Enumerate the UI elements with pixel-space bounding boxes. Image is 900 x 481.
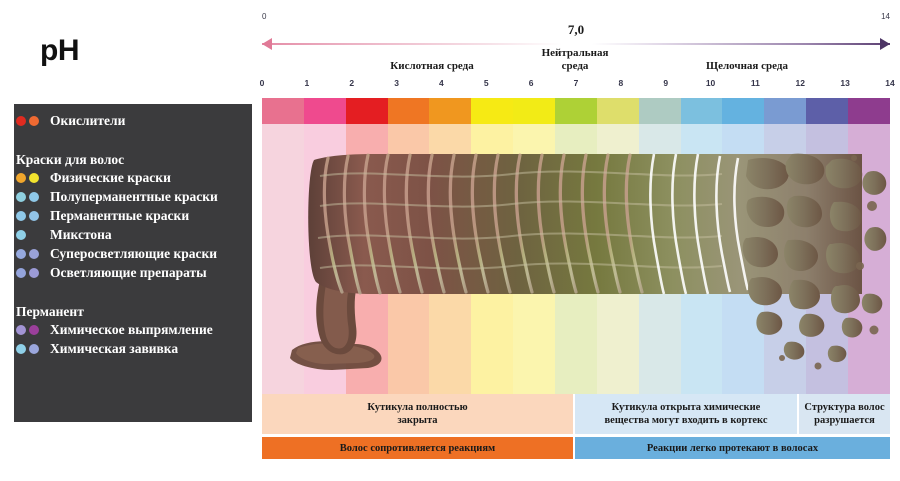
scale-tick: 0 bbox=[250, 78, 274, 88]
color-band bbox=[764, 98, 806, 394]
legend-gap bbox=[16, 131, 232, 143]
legend-color-dots bbox=[16, 211, 50, 221]
legend-item-label: Окислители bbox=[50, 113, 125, 129]
legend-color-dots bbox=[16, 344, 50, 354]
legend-dot-icon bbox=[29, 116, 39, 126]
color-band-pale bbox=[388, 124, 430, 394]
scale-tick: 13 bbox=[833, 78, 857, 88]
legend-item: Суперосветляющие краски bbox=[16, 245, 232, 263]
color-band bbox=[513, 98, 555, 394]
color-band-saturated bbox=[597, 98, 639, 124]
caption-row: Кутикула полностью закрыта Кутикула откр… bbox=[262, 394, 890, 434]
legend-color-dots bbox=[16, 192, 50, 202]
legend-item: Микстона bbox=[16, 226, 232, 244]
legend-item-label: Физические краски bbox=[50, 170, 171, 186]
summary-bar-resists: Волос сопротивляется реакциям bbox=[262, 437, 573, 459]
color-band bbox=[681, 98, 723, 394]
color-band-saturated bbox=[429, 98, 471, 124]
legend-item-label: Полуперманентные краски bbox=[50, 189, 218, 205]
scale-tick: 2 bbox=[340, 78, 364, 88]
scale-tick: 14 bbox=[878, 78, 900, 88]
color-band-saturated bbox=[304, 98, 346, 124]
color-band-pale bbox=[722, 124, 764, 394]
acid-arrow-head-icon bbox=[262, 38, 272, 50]
legend-dot-icon bbox=[29, 211, 39, 221]
region-label-alkaline: Щелочная среда bbox=[632, 60, 862, 73]
region-label-neutral: Нейтральная среда bbox=[520, 47, 630, 73]
legend-item: Физические краски bbox=[16, 169, 232, 187]
scale-tick: 12 bbox=[788, 78, 812, 88]
legend-item-label: Микстона bbox=[50, 227, 112, 243]
legend-color-dots bbox=[16, 173, 50, 183]
legend-item: Перманентные краски bbox=[16, 207, 232, 225]
color-band bbox=[346, 98, 388, 394]
color-band-pale bbox=[471, 124, 513, 394]
color-band-saturated bbox=[471, 98, 513, 124]
legend-group-heading: Перманент bbox=[16, 304, 232, 320]
color-band-saturated bbox=[681, 98, 723, 124]
alkaline-arrow-head-icon bbox=[880, 38, 890, 50]
color-band-saturated bbox=[639, 98, 681, 124]
color-band-saturated bbox=[848, 98, 890, 124]
legend-dot-icon bbox=[16, 116, 26, 126]
legend-content: ОкислителиКраски для волосФизические кра… bbox=[16, 112, 232, 359]
color-band bbox=[471, 98, 513, 394]
color-band-pale bbox=[806, 124, 848, 394]
color-band bbox=[262, 98, 304, 394]
caption-cuticle-open-line2: вещества могут входить в кортекс bbox=[604, 414, 767, 427]
caption-cuticle-open: Кутикула открыта химические вещества мог… bbox=[573, 394, 797, 434]
ph-scale-header: 0 14 7,0 Кислотная среда Нейтральная сре… bbox=[262, 12, 890, 96]
page-title: pH bbox=[40, 34, 79, 68]
region-label-neutral-line2: среда bbox=[520, 60, 630, 73]
color-band-pale bbox=[848, 124, 890, 394]
summary-bar-reacts: Реакции легко протекают в волосах bbox=[573, 437, 890, 459]
summary-bar-row: Волос сопротивляется реакциям Реакции ле… bbox=[262, 437, 890, 459]
acid-arrow-line bbox=[262, 43, 562, 45]
color-band-pale bbox=[346, 124, 388, 394]
scale-tick: 11 bbox=[743, 78, 767, 88]
color-band-saturated bbox=[555, 98, 597, 124]
legend-gap bbox=[16, 283, 232, 295]
color-band-pale bbox=[597, 124, 639, 394]
legend-item-label: Суперосветляющие краски bbox=[50, 246, 217, 262]
caption-structure-destroyed-line1: Структура волос bbox=[804, 401, 884, 414]
legend-dot-icon bbox=[16, 211, 26, 221]
legend-color-dots bbox=[16, 230, 50, 240]
legend-group-heading: Краски для волос bbox=[16, 152, 232, 168]
legend-dot-icon bbox=[16, 230, 26, 240]
infographic-root: pH ОкислителиКраски для волосФизические … bbox=[0, 0, 900, 481]
color-band-saturated bbox=[513, 98, 555, 124]
legend-item-label: Осветляющие препараты bbox=[50, 265, 207, 281]
legend-dot-icon bbox=[29, 268, 39, 278]
legend-color-dots bbox=[16, 268, 50, 278]
legend-item: Полуперманентные краски bbox=[16, 188, 232, 206]
scale-tick-row: 01234567891011121314 bbox=[262, 78, 890, 94]
color-band-row bbox=[262, 98, 890, 394]
color-band bbox=[639, 98, 681, 394]
caption-cuticle-closed-line2: закрыта bbox=[367, 414, 467, 427]
color-band-pale bbox=[764, 124, 806, 394]
scale-tick: 7 bbox=[564, 78, 588, 88]
scale-tick: 8 bbox=[609, 78, 633, 88]
color-band bbox=[722, 98, 764, 394]
alkaline-arrow-line bbox=[592, 43, 890, 45]
scale-tick: 10 bbox=[699, 78, 723, 88]
color-band-saturated bbox=[388, 98, 430, 124]
legend-dot-icon bbox=[29, 192, 39, 202]
caption-cuticle-closed-line1: Кутикула полностью bbox=[367, 401, 467, 414]
color-band bbox=[597, 98, 639, 394]
color-band-pale bbox=[513, 124, 555, 394]
color-band bbox=[304, 98, 346, 394]
color-band-pale bbox=[555, 124, 597, 394]
color-band-pale bbox=[429, 124, 471, 394]
color-band-saturated bbox=[346, 98, 388, 124]
scale-tick: 3 bbox=[385, 78, 409, 88]
color-band bbox=[806, 98, 848, 394]
scale-right-end: 14 bbox=[881, 12, 890, 21]
color-band-pale bbox=[639, 124, 681, 394]
legend-item: Химическое выпрямление bbox=[16, 321, 232, 339]
color-band bbox=[388, 98, 430, 394]
legend-item-label: Химическая завивка bbox=[50, 341, 178, 357]
legend-dot-icon bbox=[16, 173, 26, 183]
color-band-pale bbox=[681, 124, 723, 394]
color-band bbox=[429, 98, 471, 394]
caption-structure-destroyed-line2: разрушается bbox=[804, 414, 884, 427]
legend-item: Окислители bbox=[16, 112, 232, 130]
ph-color-chart bbox=[262, 98, 890, 394]
legend-item: Химическая завивка bbox=[16, 340, 232, 358]
color-band bbox=[555, 98, 597, 394]
color-band-pale bbox=[262, 124, 304, 394]
legend-dot-icon bbox=[16, 268, 26, 278]
color-band bbox=[848, 98, 890, 394]
legend-color-dots bbox=[16, 116, 50, 126]
scale-tick: 1 bbox=[295, 78, 319, 88]
scale-left-end: 0 bbox=[262, 12, 266, 21]
legend-dot-icon bbox=[16, 325, 26, 335]
legend-item: Осветляющие препараты bbox=[16, 264, 232, 282]
color-band-saturated bbox=[722, 98, 764, 124]
scale-tick: 9 bbox=[654, 78, 678, 88]
legend-item-label: Химическое выпрямление bbox=[50, 322, 213, 338]
color-band-saturated bbox=[764, 98, 806, 124]
legend-dot-icon bbox=[29, 325, 39, 335]
color-band-saturated bbox=[262, 98, 304, 124]
scale-tick: 6 bbox=[519, 78, 543, 88]
scale-center-value: 7,0 bbox=[568, 22, 584, 38]
legend-dot-icon bbox=[16, 192, 26, 202]
caption-cuticle-closed: Кутикула полностью закрыта bbox=[262, 394, 573, 434]
legend-dot-icon bbox=[29, 344, 39, 354]
region-label-neutral-line1: Нейтральная bbox=[520, 47, 630, 60]
scale-tick: 4 bbox=[429, 78, 453, 88]
legend-dot-icon bbox=[29, 173, 39, 183]
legend-dot-icon bbox=[16, 249, 26, 259]
region-label-acid: Кислотная среда bbox=[322, 60, 542, 73]
legend-color-dots bbox=[16, 249, 50, 259]
color-band-saturated bbox=[806, 98, 848, 124]
legend-dot-icon bbox=[29, 249, 39, 259]
legend-dot-icon bbox=[16, 344, 26, 354]
color-band-pale bbox=[304, 124, 346, 394]
legend-color-dots bbox=[16, 325, 50, 335]
caption-cuticle-open-line1: Кутикула открыта химические bbox=[604, 401, 767, 414]
caption-structure-destroyed: Структура волос разрушается bbox=[797, 394, 890, 434]
scale-tick: 5 bbox=[474, 78, 498, 88]
legend-item-label: Перманентные краски bbox=[50, 208, 189, 224]
